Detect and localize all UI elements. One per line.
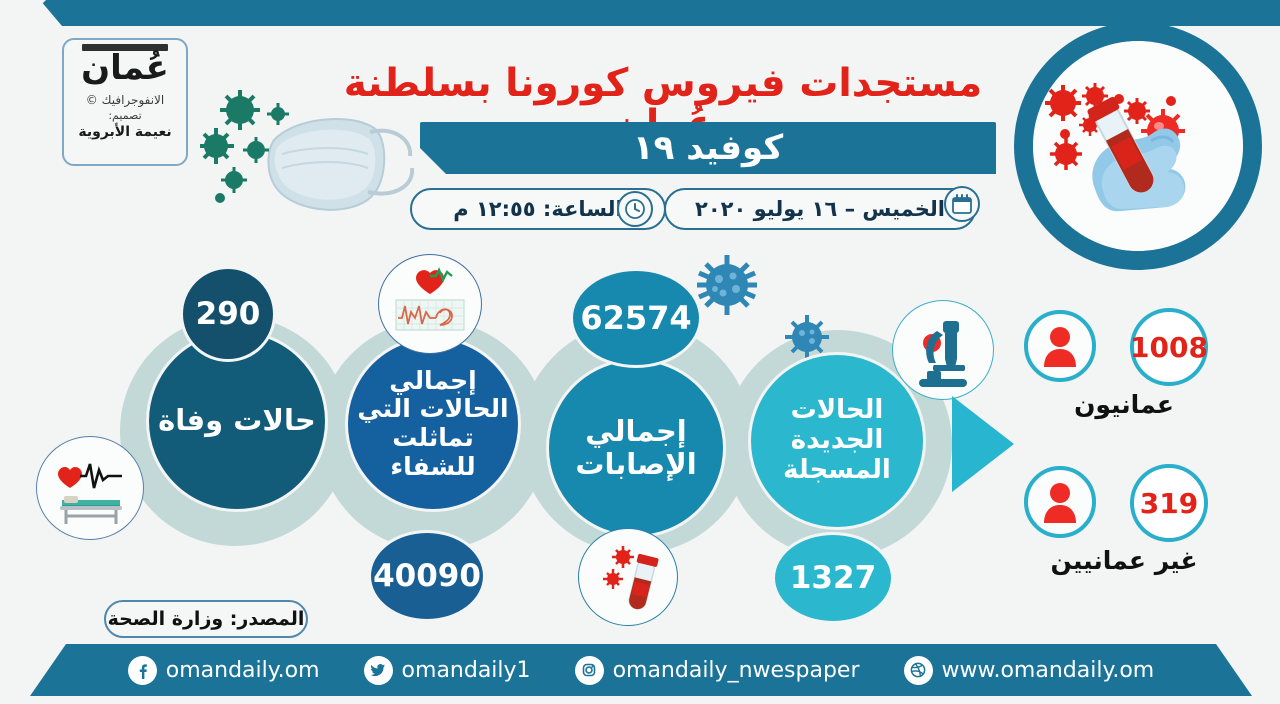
footer-item-twitter[interactable]: omandaily1 — [364, 656, 531, 685]
person-icon — [1024, 310, 1096, 382]
gloved-hand-test-tube-icon — [1033, 41, 1243, 251]
publisher-logo-box: عُمان الانفوجرافيك © تصميم: نعيمة الأبرو… — [62, 38, 188, 166]
virus-particle-icon — [692, 250, 762, 324]
top-border-band — [0, 0, 1280, 26]
stat-value-new-cases: 1327 — [772, 532, 894, 624]
calendar-icon — [944, 186, 980, 222]
microscope-icon — [892, 300, 994, 400]
virus-particle-icon — [200, 80, 330, 214]
dribbble-icon — [904, 656, 933, 685]
instagram-icon — [575, 656, 604, 685]
facebook-icon — [128, 656, 157, 685]
logo-designer-name: نعيمة الأبروية — [78, 124, 171, 140]
top-left-corner-cut — [0, 0, 54, 54]
twitter-icon — [364, 656, 393, 685]
source-pill: المصدر: وزارة الصحة — [104, 600, 308, 638]
logo-design-label: تصميم: — [108, 109, 141, 122]
ecg-heart-icon — [378, 254, 482, 354]
clock-icon — [617, 191, 653, 227]
hero-ring — [1014, 22, 1262, 270]
stretcher-icon — [36, 436, 144, 540]
test-tube-icon — [578, 528, 678, 626]
stat-value-deaths: 290 — [180, 266, 276, 362]
stat-value-infected: 62574 — [570, 268, 702, 368]
stat-circle-new-cases: الحالات الجديدة المسجلة — [748, 352, 926, 530]
label-non-omani: غير عمانيين — [1024, 546, 1224, 575]
stat-value-recovered: 40090 — [368, 530, 486, 622]
person-icon — [1024, 466, 1096, 538]
footer-text-twitter: omandaily1 — [402, 658, 531, 683]
logo-wordmark: عُمان — [81, 51, 169, 85]
footer-text-facebook: omandaily.om — [166, 658, 320, 683]
right-arrow-icon — [952, 396, 1014, 492]
stat-circle-infected: إجمالي الإصابات — [546, 358, 726, 538]
stat-circle-recovered: إجمالي الحالات التي تماثلت للشفاء — [345, 336, 521, 512]
count-non-omani: 319 — [1130, 464, 1208, 542]
footer-text-instagram: omandaily_nwespaper — [613, 658, 860, 683]
footer-item-instagram[interactable]: omandaily_nwespaper — [575, 656, 860, 685]
date-pill: الخميس – ١٦ يوليو ٢٠٢٠ — [664, 188, 976, 230]
page-subtitle: كوفيد ١٩ — [420, 128, 996, 168]
footer-bar: omandaily.om omandaily1 omandaily_nwespa… — [30, 644, 1252, 696]
footer-text-website: www.omandaily.om — [942, 658, 1155, 683]
logo-infographic-label: الانفوجرافيك © — [86, 93, 164, 107]
infographic-canvas: عُمان الانفوجرافيك © تصميم: نعيمة الأبرو… — [0, 0, 1280, 704]
footer-item-facebook[interactable]: omandaily.om — [128, 656, 320, 685]
footer-item-website[interactable]: www.omandaily.om — [904, 656, 1155, 685]
count-omani: 1008 — [1130, 308, 1208, 386]
label-omani: عمانيون — [1024, 390, 1224, 419]
